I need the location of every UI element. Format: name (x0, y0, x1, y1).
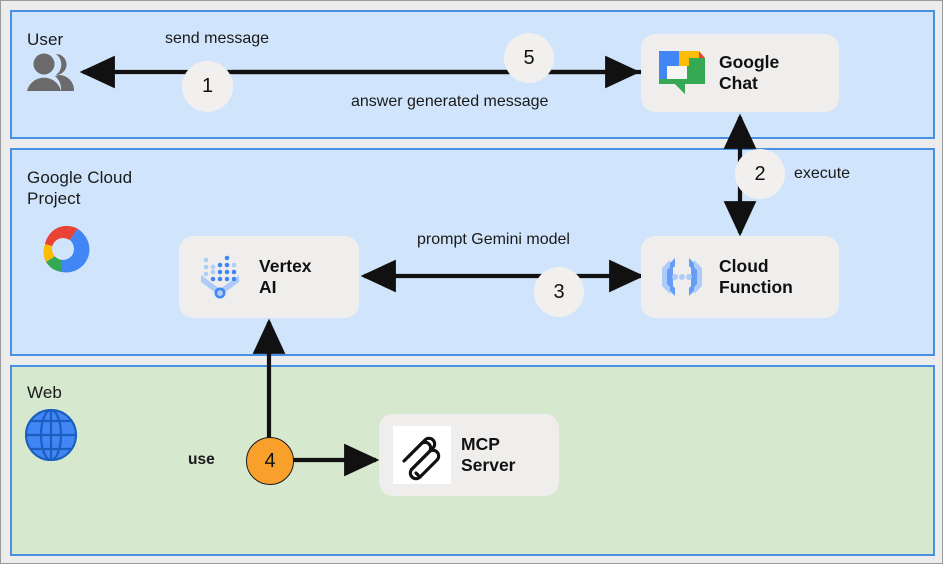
diagram-canvas: User Google Cloud Project Web (0, 0, 943, 564)
edge-label-prompt-gemini-model: prompt Gemini model (417, 231, 570, 249)
node-label-vertex-ai: Vertex AI (259, 256, 312, 298)
vertex-ai-icon (193, 249, 249, 305)
edge-label-answer-generated-message: answer generated message (351, 93, 548, 111)
edge-label-send-message: send message (165, 30, 269, 48)
node-label-mcp-server: MCP Server (461, 434, 516, 476)
people-icon (23, 53, 77, 93)
cloud-function-icon (655, 250, 709, 304)
step-badge-2: 2 (735, 149, 785, 199)
node-label-google-chat: Google Chat (719, 52, 779, 94)
mcp-icon (393, 426, 451, 484)
panel-label-web: Web (27, 382, 62, 403)
step-badge-1: 1 (182, 61, 233, 112)
node-mcp-server[interactable]: MCP Server (379, 414, 559, 496)
step-badge-5: 5 (504, 33, 554, 83)
edge-label-use: use (188, 451, 215, 469)
step-badge-3: 3 (534, 267, 584, 317)
panel-label-google-cloud: Google Cloud Project (27, 167, 132, 209)
globe-icon (25, 409, 77, 461)
panel-label-user: User (27, 29, 63, 50)
node-label-cloud-function: Cloud Function (719, 256, 793, 298)
node-vertex-ai[interactable]: Vertex AI (179, 236, 359, 318)
edge-label-execute: execute (794, 165, 850, 183)
node-cloud-function[interactable]: Cloud Function (641, 236, 839, 318)
google-chat-icon (655, 46, 709, 100)
node-google-chat[interactable]: Google Chat (641, 34, 839, 112)
google-cloud-logo (31, 221, 99, 275)
step-badge-4: 4 (246, 437, 294, 485)
